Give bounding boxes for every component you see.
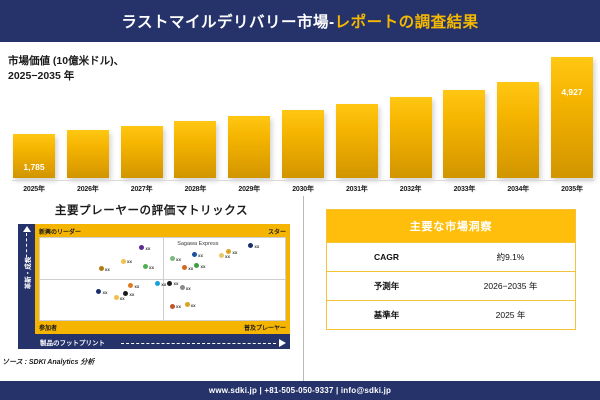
quadrant-label-top-right: スター (268, 227, 286, 236)
quadrant-label-bottom-right: 普及プレーヤー (244, 323, 286, 332)
matrix-chart: 革新・成長 新興のリーダー スター 参加者 普及プレーヤー Sagawa Exp… (18, 224, 290, 349)
table-row: CAGR約9.1% (327, 243, 576, 272)
report-header: ラストマイルデリバリー市場-レポートの調査結果 (0, 0, 600, 42)
matrix-data-point-label: xx (161, 282, 166, 287)
arrow-right-icon (279, 339, 286, 347)
table-row: 予測年2026−2035 年 (327, 272, 576, 301)
matrix-data-point (170, 256, 175, 261)
source-note: ソース : SDKI Analytics 分析 (2, 357, 94, 367)
x-axis-tick-label: 2026年 (66, 181, 110, 195)
bar (121, 126, 163, 178)
matrix-vertical-axis-label: 革新・成長 (22, 230, 32, 316)
page-title-secondary: レポートの調査結果 (335, 14, 479, 31)
x-axis-tick-label: 2029年 (227, 181, 271, 195)
matrix-data-point (121, 259, 126, 264)
horizontal-dashed-line (121, 343, 276, 344)
matrix-data-point-label: xx (149, 265, 154, 270)
matrix-data-point-label: xx (232, 250, 237, 255)
matrix-data-point (167, 281, 172, 286)
matrix-data-point (226, 249, 231, 254)
page-title: ラストマイルデリバリー市場-レポートの調査結果 (121, 10, 478, 32)
x-axis-tick-label: 2034年 (496, 181, 540, 195)
matrix-callout-label: Sagawa Express (177, 241, 218, 247)
report-footer: www.sdki.jp | +81-505-050-9337 | info@sd… (0, 381, 600, 400)
quadrant-label-bottom-left: 参加者 (39, 323, 57, 332)
x-axis-tick-label: 2030年 (281, 181, 325, 195)
bar (67, 130, 109, 178)
matrix-data-point-label: xx (191, 303, 196, 308)
matrix-data-point-label: xx (102, 290, 107, 295)
matrix-data-point-label: xx (120, 296, 125, 301)
bar (336, 104, 378, 178)
matrix-data-point (194, 263, 199, 268)
matrix-data-point (123, 291, 128, 296)
table-row: 基準年2025 年 (327, 301, 576, 330)
insight-key: 予測年 (327, 272, 447, 301)
bar-chart-plot-area: 1,7854,927 (12, 50, 594, 178)
matrix-data-point (170, 304, 175, 309)
matrix-title: 主要プレーヤーの評価マトリックス (0, 202, 303, 218)
matrix-data-point-label: xx (145, 246, 150, 251)
x-axis-tick-label: 2035年 (550, 181, 594, 195)
bar-column (389, 50, 433, 178)
matrix-data-point-label: xx (176, 304, 181, 309)
insights-table-header: 主要な市場洞察 (327, 210, 576, 243)
bar-column (496, 50, 540, 178)
bar: 1,785 (13, 134, 55, 178)
x-axis-tick-label: 2032年 (389, 181, 433, 195)
bar (282, 110, 324, 178)
matrix-plot-area: Sagawa Express xxxxxxxxxxxxxxxxxxxxxxxxx… (39, 237, 286, 321)
x-axis-tick-label: 2027年 (120, 181, 164, 195)
matrix-data-point (143, 264, 148, 269)
bar (228, 116, 270, 178)
matrix-data-point-label: xx (198, 253, 203, 258)
matrix-data-point (248, 243, 253, 248)
matrix-data-point (219, 253, 224, 258)
footer-contact-text: www.sdki.jp | +81-505-050-9337 | info@sd… (209, 386, 391, 395)
bar (174, 121, 216, 178)
bar-column (335, 50, 379, 178)
matrix-data-point-label: xx (105, 267, 110, 272)
bar-column (173, 50, 217, 178)
matrix-data-point (128, 283, 133, 288)
matrix-data-point (182, 265, 187, 270)
matrix-data-point-label: xx (174, 281, 179, 286)
x-axis-tick-label: 2028年 (173, 181, 217, 195)
matrix-data-point (139, 245, 144, 250)
matrix-horizontal-axis: 製品のフットプリント (35, 334, 290, 349)
matrix-data-point (192, 252, 197, 257)
matrix-data-point-label: xx (188, 266, 193, 271)
bar-chart-x-axis: 2025年2026年2027年2028年2029年2030年2031年2032年… (12, 180, 594, 195)
bar (390, 97, 432, 178)
bar-column (120, 50, 164, 178)
matrix-horizontal-axis-label: 製品のフットプリント (40, 337, 105, 347)
lower-section: 主要プレーヤーの評価マトリックス 革新・成長 新興のリーダー スター 参加者 普… (0, 196, 600, 381)
matrix-data-point-label: xx (200, 264, 205, 269)
matrix-data-point-label: xx (129, 292, 134, 297)
market-value-bar-chart: 市場価値 (10億米ドル)、 2025−2035 年 1,7854,927 20… (0, 42, 600, 195)
matrix-data-point-label: xx (254, 244, 259, 249)
page-title-primary: ラストマイルデリバリー市場- (121, 14, 334, 31)
matrix-data-point (96, 289, 101, 294)
bar-column: 4,927 (550, 50, 594, 178)
bar (497, 82, 539, 178)
insight-value: 約9.1% (446, 243, 575, 272)
matrix-data-point (114, 295, 119, 300)
matrix-data-point-label: xx (127, 259, 132, 264)
insight-value: 2025 年 (446, 301, 575, 330)
bar-column (442, 50, 486, 178)
x-axis-tick-label: 2033年 (442, 181, 486, 195)
matrix-data-point (180, 285, 185, 290)
bar-column (281, 50, 325, 178)
matrix-data-point-label: xx (134, 284, 139, 289)
insight-value: 2026−2035 年 (446, 272, 575, 301)
evaluation-matrix-panel: 主要プレーヤーの評価マトリックス 革新・成長 新興のリーダー スター 参加者 普… (0, 196, 304, 381)
matrix-midline-vertical (163, 238, 164, 320)
matrix-data-point (155, 281, 160, 286)
bar (443, 90, 485, 178)
matrix-data-point (185, 302, 190, 307)
insights-table-body: CAGR約9.1%予測年2026−2035 年基準年2025 年 (327, 243, 576, 330)
bar-column (227, 50, 271, 178)
key-market-insights-panel: 主要な市場洞察 CAGR約9.1%予測年2026−2035 年基準年2025 年 (304, 196, 600, 381)
insight-key: CAGR (327, 243, 447, 272)
matrix-data-point-label: xx (186, 286, 191, 291)
x-axis-tick-label: 2031年 (335, 181, 379, 195)
quadrant-label-top-left: 新興のリーダー (39, 227, 81, 236)
matrix-data-point-label: xx (225, 254, 230, 259)
bar-value-label: 1,785 (13, 162, 55, 172)
insight-key: 基準年 (327, 301, 447, 330)
bar: 4,927 (551, 57, 593, 178)
matrix-quadrant-frame: 新興のリーダー スター 参加者 普及プレーヤー Sagawa Express x… (35, 224, 290, 334)
x-axis-tick-label: 2025年 (12, 181, 56, 195)
matrix-data-point (99, 266, 104, 271)
bar-column (66, 50, 110, 178)
matrix-data-point-label: xx (176, 257, 181, 262)
matrix-vertical-axis: 革新・成長 (18, 224, 35, 349)
bar-column: 1,785 (12, 50, 56, 178)
insights-table: 主要な市場洞察 CAGR約9.1%予測年2026−2035 年基準年2025 年 (326, 209, 576, 330)
bar-value-label: 4,927 (551, 87, 593, 97)
